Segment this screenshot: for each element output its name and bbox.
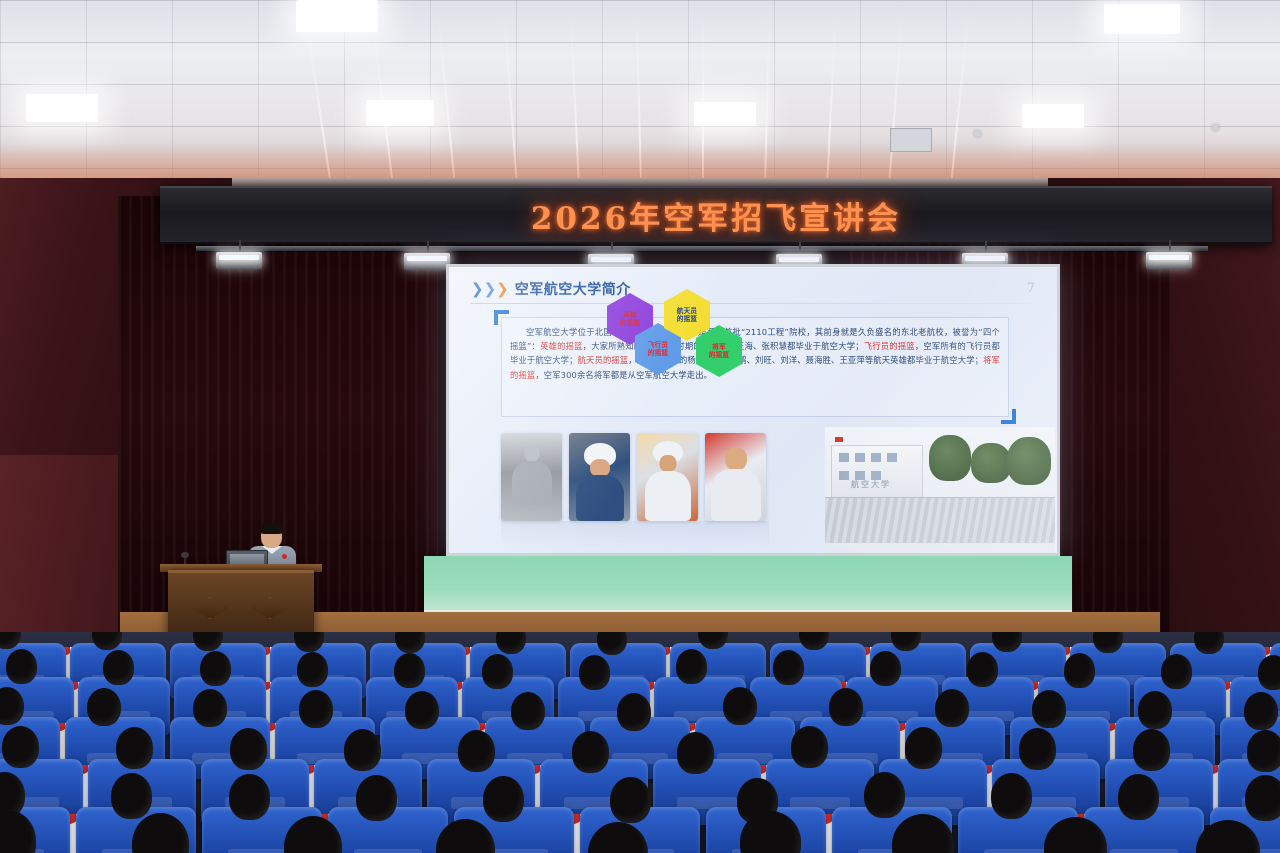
hair <box>676 649 707 684</box>
audience-student-head <box>284 816 342 853</box>
projection-screen[interactable]: ❯ ❯ ❯ 空军航空大学简介 7 空军航空大学位于北国春城的吉林省长春市，是军队… <box>449 267 1057 553</box>
audience-student-head <box>92 632 122 650</box>
audience-student-head <box>597 632 627 655</box>
ceiling <box>0 0 1280 186</box>
photo-historic-pilot <box>501 433 562 521</box>
audience-student-head <box>436 819 495 853</box>
corner-bracket-top-left-icon <box>494 310 509 325</box>
hair <box>111 773 152 819</box>
hair <box>1044 817 1107 853</box>
photo-fighter-pilot <box>569 433 630 521</box>
audience-student-head <box>1118 774 1159 820</box>
hair <box>394 653 425 688</box>
campus-building-photo: 航空大学 <box>825 427 1055 553</box>
audience-student-head <box>864 772 905 818</box>
photo-reflection <box>501 521 769 547</box>
audience-student-head <box>395 632 425 653</box>
audience-student-head <box>1245 775 1280 821</box>
hair <box>572 731 609 772</box>
hair <box>395 632 425 653</box>
hair <box>617 693 651 731</box>
hair <box>829 688 863 726</box>
audience-student-head <box>193 632 223 651</box>
audience-student-head <box>132 813 189 853</box>
audience-student-head <box>991 773 1032 819</box>
green-wall-panel <box>424 556 1072 618</box>
hair <box>405 691 439 729</box>
hair <box>200 651 231 686</box>
audience-student-head <box>1138 691 1172 729</box>
audience-student-head <box>829 688 863 726</box>
slide-text-highlight: 航天员的摇篮 <box>578 355 629 365</box>
led-banner-text: 2026年空军招飞宣讲会 <box>531 193 901 238</box>
slide-text-run: ，空军300余名将军都是从空军航空大学走出。 <box>535 370 712 380</box>
hair <box>905 727 942 768</box>
ceiling-panel-light <box>694 102 756 126</box>
hair <box>482 654 513 689</box>
hair <box>230 728 267 769</box>
slide-page-number: 7 <box>1027 281 1035 296</box>
audience-student-head <box>299 690 333 728</box>
hair <box>2 726 39 767</box>
audience-student-head <box>1194 632 1224 654</box>
chevron-right-icon: ❯ ❯ ❯ <box>471 282 509 297</box>
stage-spotlight <box>216 252 262 269</box>
hair <box>1019 728 1056 769</box>
hair <box>1161 654 1192 689</box>
hair <box>1138 691 1172 729</box>
slide-text-highlight: 飞行员的摇篮 <box>864 341 915 351</box>
audience-student-head <box>87 688 121 726</box>
hair <box>103 650 134 685</box>
hair <box>294 632 324 652</box>
audience-student-head <box>2 726 39 767</box>
hair <box>588 822 648 853</box>
hair <box>698 632 728 649</box>
hair <box>891 632 921 651</box>
ceiling-panel-light <box>296 0 378 32</box>
hair <box>1118 774 1159 820</box>
hair <box>193 689 227 727</box>
audience-student-head <box>200 651 231 686</box>
slide-text-box: 空军航空大学位于北国春城的吉林省长春市，是军队首批“2110工程”院校，其前身就… <box>501 317 1009 417</box>
audience-student-head <box>344 729 381 770</box>
hair <box>1133 729 1170 770</box>
audience-student-head <box>579 655 610 690</box>
hair <box>511 692 545 730</box>
audience-student-head <box>405 691 439 729</box>
audience-student-head <box>0 632 21 649</box>
hair <box>458 730 495 771</box>
hair <box>1258 655 1280 690</box>
hair <box>229 774 270 820</box>
hair <box>892 814 954 853</box>
hair <box>87 688 121 726</box>
hair <box>791 726 828 767</box>
audience-student-head <box>773 650 804 685</box>
hair <box>935 689 969 727</box>
ceiling-panel-light <box>26 94 98 122</box>
audience-student-head <box>870 651 901 686</box>
hair <box>579 655 610 690</box>
audience-student-head <box>1196 820 1260 853</box>
hair <box>773 650 804 685</box>
audience-student-head <box>511 692 545 730</box>
hair <box>0 687 24 725</box>
audience-student-head <box>111 773 152 819</box>
audience-student-head <box>1044 817 1107 853</box>
hair <box>92 632 122 650</box>
hair <box>677 732 714 773</box>
hair <box>496 632 526 654</box>
audience-student-head <box>1064 653 1095 688</box>
ceiling-panel-light <box>1022 104 1084 128</box>
audience-student-head <box>356 775 397 821</box>
hair <box>6 649 37 684</box>
audience-student-head <box>116 727 153 768</box>
audience-student-head <box>1258 655 1280 690</box>
audience-student-head <box>458 730 495 771</box>
audience-student-head <box>0 810 36 853</box>
audience-student-head <box>229 774 270 820</box>
hair <box>991 773 1032 819</box>
audience-student-head <box>1247 730 1280 771</box>
hair <box>0 632 21 649</box>
hair <box>870 651 901 686</box>
hair <box>1245 775 1280 821</box>
hair <box>610 777 651 823</box>
projection-screen-frame: ❯ ❯ ❯ 空军航空大学简介 7 空军航空大学位于北国春城的吉林省长春市，是军队… <box>446 264 1060 556</box>
hair <box>132 813 189 853</box>
audience-student-head <box>791 726 828 767</box>
audience-student-head <box>482 654 513 689</box>
corner-bracket-bottom-right-icon <box>1001 409 1016 424</box>
hair <box>799 632 829 650</box>
hair <box>597 632 627 655</box>
audience-student-head <box>799 632 829 650</box>
audience-student-head <box>230 728 267 769</box>
audience-student-head <box>967 652 998 687</box>
auditorium-scene: 2026年空军招飞宣讲会 ❯ ❯ ❯ 空军航空大学简介 7 空军航空大学位于北国… <box>0 0 1280 853</box>
hair <box>1064 653 1095 688</box>
audience-student-head <box>992 632 1022 652</box>
audience-student-head <box>1032 690 1066 728</box>
audience-student-head <box>572 731 609 772</box>
audience-student-head <box>588 822 648 853</box>
audience-student-head <box>193 689 227 727</box>
hair <box>356 775 397 821</box>
audience-student-head <box>610 777 651 823</box>
audience-student-head <box>1161 654 1192 689</box>
campus-sign-text: 航空大学 <box>851 479 891 490</box>
audience-student-head <box>1019 728 1056 769</box>
audience-student-head <box>905 727 942 768</box>
audience-student-head <box>617 693 651 731</box>
audience-student-head <box>0 687 24 725</box>
hair <box>436 819 495 853</box>
hair <box>1194 632 1224 654</box>
hair <box>967 652 998 687</box>
hair <box>992 632 1022 652</box>
audience-student-head <box>496 632 526 654</box>
led-banner: 2026年空军招飞宣讲会 <box>160 186 1272 244</box>
photo-astronaut-waving <box>637 433 698 521</box>
hair <box>299 690 333 728</box>
hair <box>483 776 524 822</box>
hair <box>1247 730 1280 771</box>
audience-student-head <box>1093 632 1123 653</box>
stage-spotlight <box>404 253 450 270</box>
air-vent <box>890 128 932 152</box>
audience-student-head <box>740 811 801 853</box>
hair <box>740 811 801 853</box>
ceiling-panel-light <box>366 100 434 126</box>
slide-text-highlight: 英雄的摇篮 <box>540 341 583 351</box>
slide-photo-strip <box>501 433 766 521</box>
audience-student-head <box>6 649 37 684</box>
audience-student-head <box>297 652 328 687</box>
audience-student-head <box>1244 692 1278 730</box>
slide-header: ❯ ❯ ❯ 空军航空大学简介 <box>471 279 631 299</box>
hair <box>1093 632 1123 653</box>
slide-title-divider <box>471 303 1035 304</box>
hair <box>297 652 328 687</box>
audience-student-head <box>394 653 425 688</box>
photo-female-astronaut-waving <box>705 433 766 521</box>
lighting-truss <box>196 246 1208 251</box>
audience-student-head <box>935 689 969 727</box>
audience-area <box>0 632 1280 853</box>
hair <box>344 729 381 770</box>
ceiling-panel-light <box>1104 4 1180 34</box>
hair <box>116 727 153 768</box>
audience-student-head <box>483 776 524 822</box>
audience-student-head <box>892 814 954 853</box>
audience-student-head <box>676 649 707 684</box>
audience-student-head <box>891 632 921 651</box>
audience-student-head <box>294 632 324 652</box>
hair <box>1196 820 1260 853</box>
hair <box>723 687 757 725</box>
hair <box>193 632 223 651</box>
audience-student-head <box>723 687 757 725</box>
slide-body-text: 空军航空大学位于北国春城的吉林省长春市，是军队首批“2110工程”院校，其前身就… <box>510 325 1000 382</box>
audience-student-head <box>1133 729 1170 770</box>
smoke-detector-icon <box>1212 124 1219 131</box>
audience-student-head <box>698 632 728 649</box>
hair <box>864 772 905 818</box>
hair <box>1244 692 1278 730</box>
hair <box>284 816 342 853</box>
slide-title: 空军航空大学简介 <box>515 279 631 299</box>
hair <box>0 810 36 853</box>
audience-student-head <box>677 732 714 773</box>
audience-student-head <box>103 650 134 685</box>
hair <box>1032 690 1066 728</box>
smoke-detector-icon <box>974 130 981 137</box>
stage-spotlight <box>1146 252 1192 269</box>
slide-text-run: ，大家所熟悉的杨利伟、景海鹏、刘旺、刘洋、聂海胜、王亚萍等航天英雄都毕业于航空大… <box>628 355 983 365</box>
